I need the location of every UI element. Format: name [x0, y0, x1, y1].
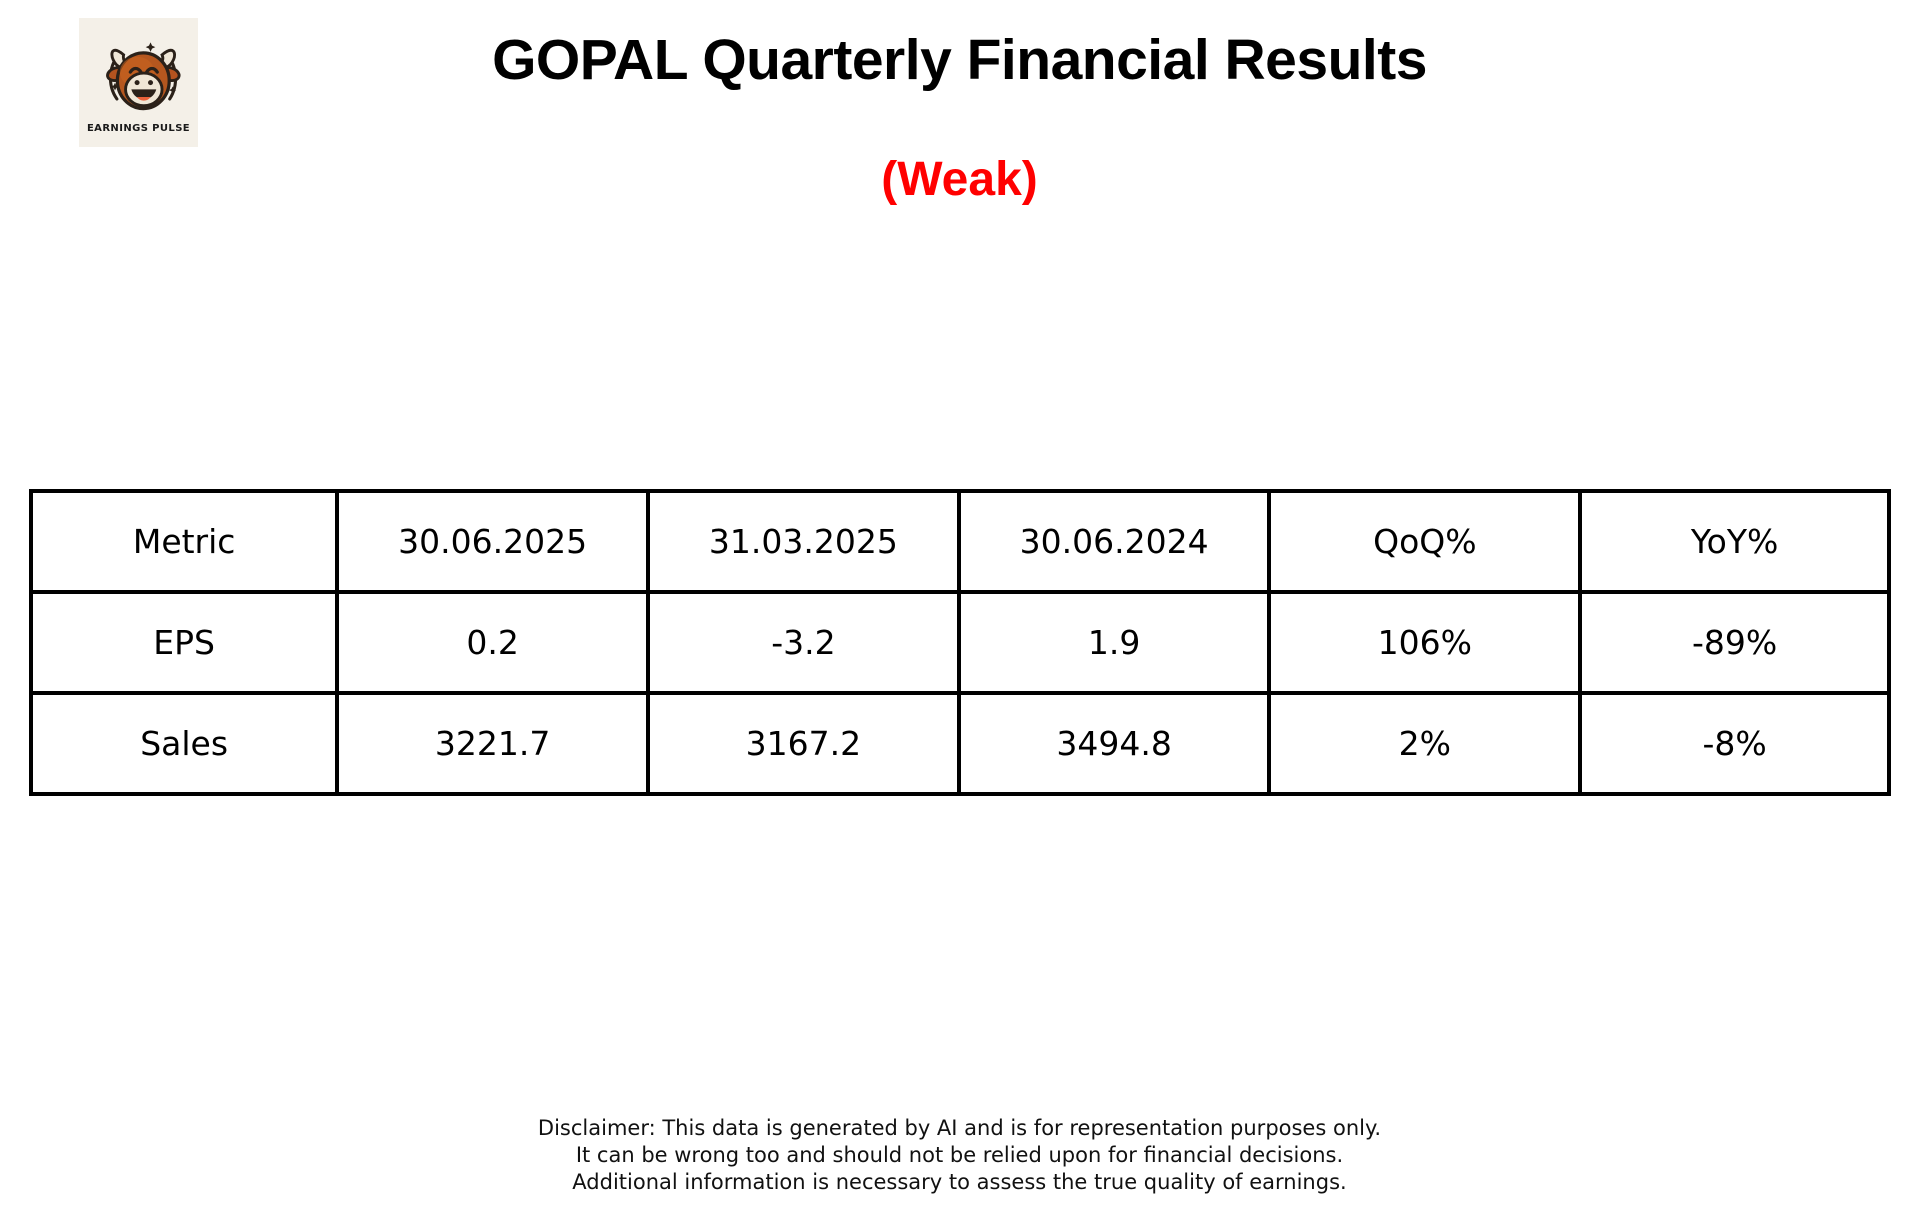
cell-eps-yoy: -89% — [1580, 592, 1891, 693]
disclaimer-line-2: It can be wrong too and should not be re… — [0, 1142, 1919, 1169]
brand-wordmark: EARNINGS PULSE — [87, 123, 190, 134]
cell-metric-eps: EPS — [29, 592, 337, 693]
cell-sales-yoy: -8% — [1580, 693, 1891, 796]
disclaimer-line-3: Additional information is necessary to a… — [0, 1169, 1919, 1196]
result-sentiment-label: (Weak) — [0, 152, 1919, 207]
disclaimer-line-1: Disclaimer: This data is generated by AI… — [0, 1115, 1919, 1142]
cell-sales-qoq: 2% — [1269, 693, 1580, 796]
disclaimer: Disclaimer: This data is generated by AI… — [0, 1115, 1919, 1196]
header-yoy: YoY% — [1580, 489, 1891, 592]
cell-sales-period-1: 3221.7 — [337, 693, 648, 796]
cell-eps-qoq: 106% — [1269, 592, 1580, 693]
cell-metric-sales: Sales — [29, 693, 337, 796]
quarterly-results-table: Metric 30.06.2025 31.03.2025 30.06.2024 … — [29, 489, 1891, 796]
header-period-2: 31.03.2025 — [648, 489, 959, 592]
cell-sales-period-2: 3167.2 — [648, 693, 959, 796]
table-row: Sales 3221.7 3167.2 3494.8 2% -8% — [29, 693, 1891, 796]
cell-eps-period-1: 0.2 — [337, 592, 648, 693]
cell-sales-period-3: 3494.8 — [959, 693, 1270, 796]
table-row: EPS 0.2 -3.2 1.9 106% -89% — [29, 592, 1891, 693]
header-qoq: QoQ% — [1269, 489, 1580, 592]
table-header-row: Metric 30.06.2025 31.03.2025 30.06.2024 … — [29, 489, 1891, 592]
header-period-1: 30.06.2025 — [337, 489, 648, 592]
page-title: GOPAL Quarterly Financial Results — [0, 27, 1919, 93]
header-metric: Metric — [29, 489, 337, 592]
cell-eps-period-2: -3.2 — [648, 592, 959, 693]
cell-eps-period-3: 1.9 — [959, 592, 1270, 693]
header-period-3: 30.06.2024 — [959, 489, 1270, 592]
